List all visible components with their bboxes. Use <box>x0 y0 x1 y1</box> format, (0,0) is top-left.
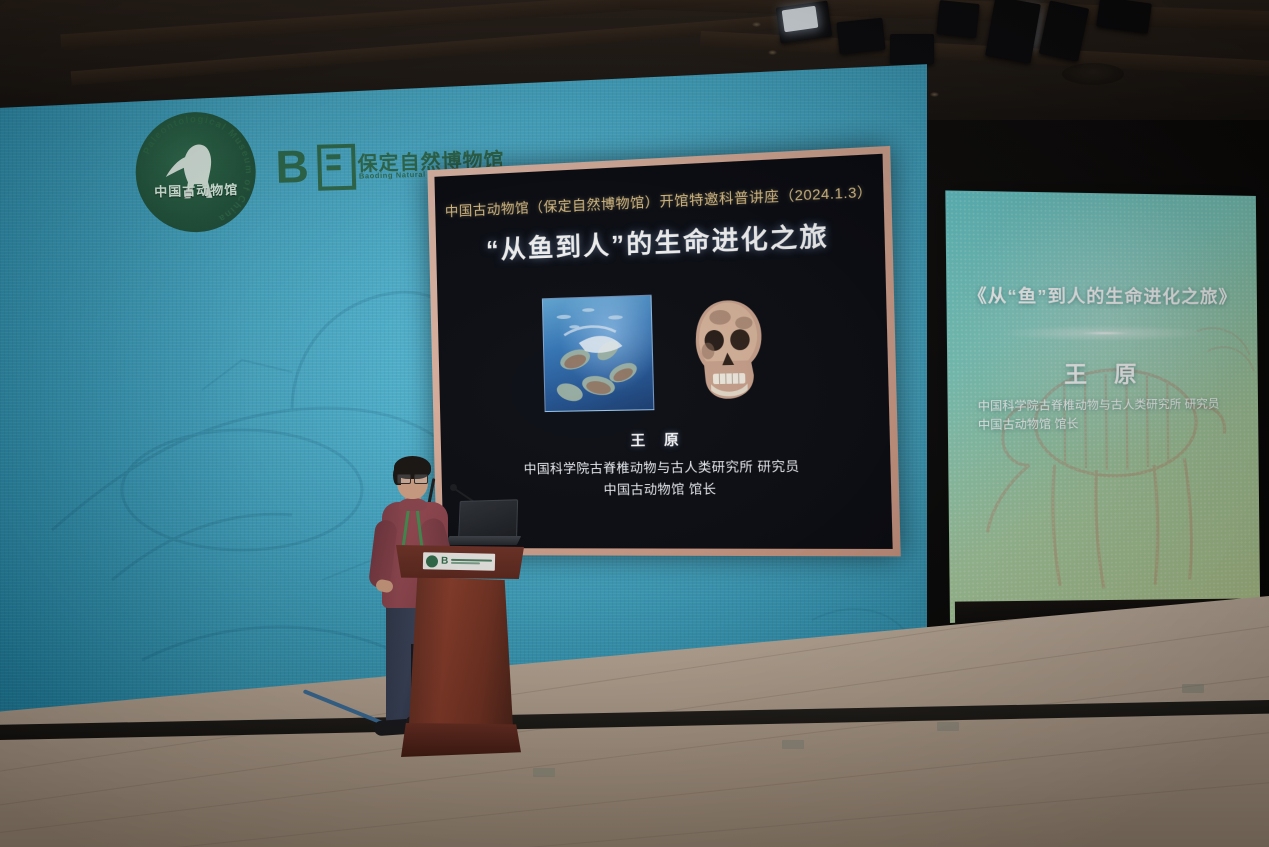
museum-logo-label-cn: 中国古动物馆 <box>150 179 242 201</box>
slide-title-text: “从鱼到人”的生命进化之旅 <box>436 213 885 268</box>
slide-image-row <box>437 279 889 420</box>
floor-inlay-plate <box>782 740 804 749</box>
slide-content: 中国古动物馆（保定自然博物馆）开馆特邀科普讲座（2024.1.3） “从鱼到人”… <box>434 154 892 549</box>
banner-speaker-name: 王 原 <box>947 356 1258 391</box>
banner-affiliations: 中国科学院古脊椎动物与古人类研究所 研究员 中国古动物馆 馆长 <box>978 396 1245 436</box>
floor-inlay-plate <box>937 722 959 731</box>
stage-light-lens <box>782 6 819 33</box>
hominin-skull-image <box>683 290 774 409</box>
lectern-plaque: B <box>423 552 495 571</box>
lectern: B <box>399 545 521 763</box>
slide-header-text: 中国古动物馆（保定自然博物馆）开馆特邀科普讲座（2024.1.3） <box>435 179 884 221</box>
stage-photograph-scene: Paleontological Museum of China 中国古动物馆 B… <box>0 0 1269 847</box>
lens-flare <box>984 324 1222 343</box>
museum-logo-ring-text: Paleontological Museum of China <box>134 111 257 234</box>
banner-affiliation-1: 中国科学院古脊椎动物与古人类研究所 研究员 <box>978 396 1245 417</box>
wall-logo-group: Paleontological Museum of China 中国古动物馆 B… <box>126 100 420 263</box>
ancient-fish-illustration <box>542 294 655 411</box>
projected-slide: 中国古动物馆（保定自然博物馆）开馆特邀科普讲座（2024.1.3） “从鱼到人”… <box>427 146 900 557</box>
slide-border-frame: 中国古动物馆（保定自然博物馆）开馆特邀科普讲座（2024.1.3） “从鱼到人”… <box>427 146 900 557</box>
side-led-banner: 《从“鱼”到人的生命进化之旅》 王 原 中国科学院古脊椎动物与古人类研究所 研究… <box>945 190 1260 623</box>
floor-inlay-plate <box>1182 684 1204 693</box>
stage-light <box>936 0 979 38</box>
stage-light <box>1096 0 1152 33</box>
stage-light <box>890 34 934 64</box>
slide-affiliation-2: 中国古动物馆 馆长 <box>442 477 892 501</box>
slide-speaker-name: 王 原 <box>441 426 890 453</box>
banner-affiliation-2: 中国古动物馆 馆长 <box>978 414 1245 436</box>
banner-title-text: 《从“鱼”到人的生命进化之旅》 <box>946 282 1257 309</box>
bd-monogram-letter: B <box>275 143 308 190</box>
slide-credits: 王 原 中国科学院古脊椎动物与古人类研究所 研究员 中国古动物馆 馆长 <box>441 426 892 501</box>
stage-light <box>836 18 885 55</box>
plaque-monogram: B <box>441 556 448 566</box>
floor-inlay-plate <box>533 768 555 777</box>
bd-monogram-mark <box>317 144 356 191</box>
eyeglasses <box>397 474 428 482</box>
plaque-museum-logo-icon <box>426 555 438 567</box>
